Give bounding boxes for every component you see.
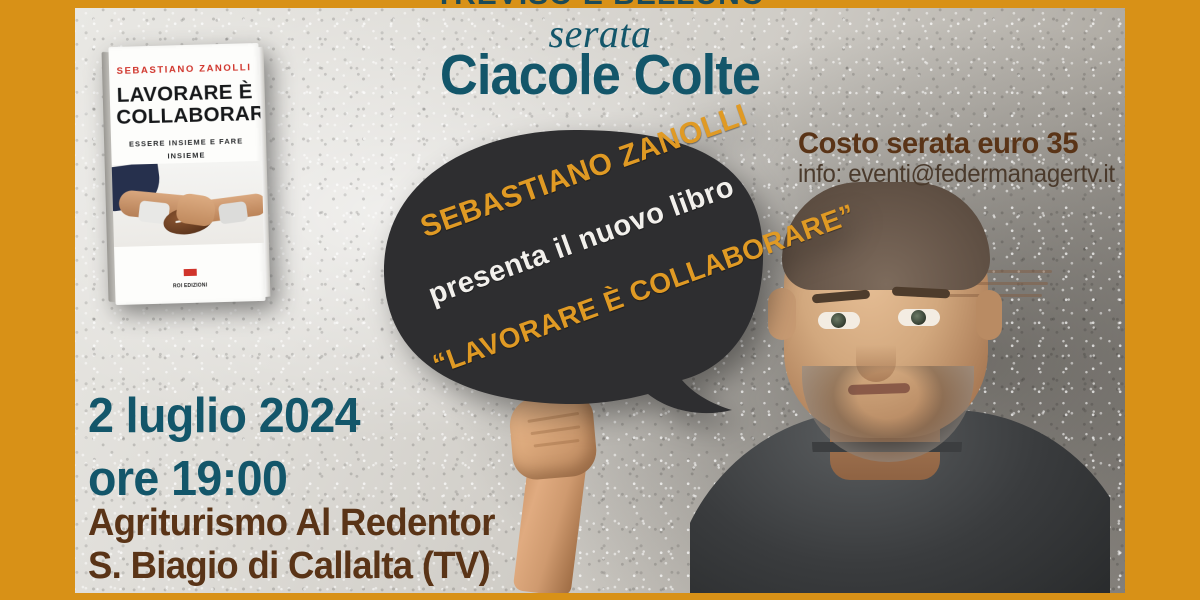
frame-right <box>1125 0 1200 600</box>
iris <box>911 310 926 325</box>
venue-location: S. Biagio di Callalta (TV) <box>88 545 490 587</box>
event-venue: Agriturismo Al Redentor S. Biagio di Cal… <box>88 502 495 588</box>
speaker-eye-right <box>898 309 940 326</box>
cost-label: Costo serata euro 35 <box>798 128 1108 159</box>
book-photo-wristband-right <box>218 201 248 225</box>
event-poster: SEBASTIANO ZANOLLI LAVORARE È COLLABORAR… <box>0 0 1200 600</box>
publisher-name: ROI EDIZIONI <box>115 281 265 291</box>
cutoff-header-line: TREVISO E BELLUNO <box>0 0 1200 8</box>
event-datetime: 2 luglio 2024 ore 19:00 <box>88 385 360 510</box>
publisher-logo: ROI EDIZIONI <box>115 263 266 291</box>
speaker-eye-left <box>818 312 860 329</box>
book-photo-hand <box>175 192 217 227</box>
event-time: ore 19:00 <box>88 452 287 506</box>
speech-bubble-shape <box>382 128 766 446</box>
frame-left <box>0 0 75 600</box>
speaker-ear-left <box>768 288 796 340</box>
page-title: Ciacole Colte <box>48 42 1152 108</box>
iris <box>831 313 846 328</box>
publisher-mark-icon <box>183 269 196 276</box>
book-cover-photo-hands-football <box>112 161 264 247</box>
price-info-block: Costo serata euro 35 info: eventi@federm… <box>798 128 1118 189</box>
speaker-hair <box>782 182 990 290</box>
frame-bottom <box>0 593 1200 600</box>
speech-bubble-sign: SEBASTIANO ZANOLLI presenta il nuovo lib… <box>382 128 766 446</box>
speaker-ear-right <box>976 290 1002 340</box>
contact-email-label[interactable]: info: eventi@federmanagertv.it <box>798 160 1105 189</box>
book-subtitle-line-1: ESSERE INSIEME E FARE INSIEME <box>129 136 243 160</box>
event-date: 2 luglio 2024 <box>88 389 360 443</box>
venue-name: Agriturismo Al Redentor <box>88 502 495 544</box>
